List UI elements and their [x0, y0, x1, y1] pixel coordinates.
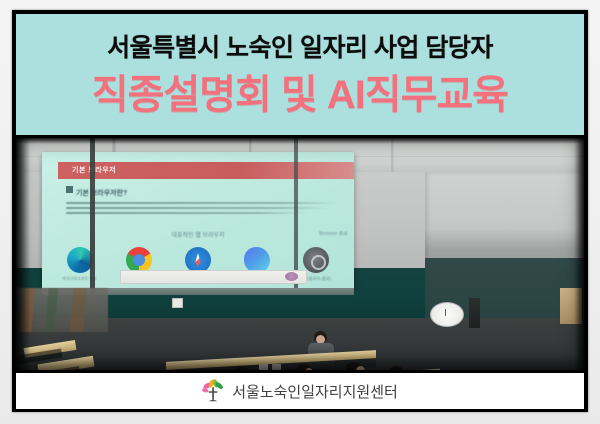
- projector-screen: 기본 브라우저 기본 브라우저란? 대표적인 웹 브라우저 Browser 종류…: [42, 152, 354, 288]
- lecture-room: 기본 브라우저 기본 브라우저란? 대표적인 웹 브라우저 Browser 종류…: [16, 138, 584, 370]
- seoul-homeless-job-center-logo-icon: [202, 379, 224, 403]
- attendee: [382, 366, 412, 370]
- slide-corner-label: Browser 종류: [319, 230, 348, 237]
- edge-browser-icon: [67, 247, 93, 273]
- poster-frame: 서울특별시 노숙인 일자리 사업 담당자 직종설명회 및 AI직무교육 기본 브…: [12, 10, 588, 412]
- attendee: [288, 364, 320, 370]
- slide-subheading: 기본 브라우저란?: [76, 188, 127, 198]
- wall-banner: [120, 270, 307, 284]
- organization-name: 서울노숙인일자리지원센터: [232, 381, 398, 402]
- other-browser-icon: [303, 247, 329, 273]
- slide-bullet-icon: [66, 186, 73, 193]
- wall-banner-seal-icon: [285, 272, 298, 281]
- wall-seam: [294, 138, 298, 288]
- photo-edge-right: [574, 138, 584, 370]
- poster-footer: 서울노숙인일자리지원센터: [16, 373, 584, 409]
- photo-edge-left: [16, 138, 30, 370]
- photo-edge-top: [16, 138, 584, 144]
- wall-clock-icon: [430, 302, 464, 327]
- slide-center-label: 대표적인 웹 브라우저: [42, 230, 354, 239]
- attendee: [226, 366, 256, 370]
- header-subtitle: 서울특별시 노숙인 일자리 사업 담당자: [107, 36, 493, 61]
- slide-title-bar: 기본 브라우저: [58, 162, 354, 179]
- header-title: 직종설명회 및 AI직무교육: [92, 75, 508, 115]
- wall-light-switch: [172, 298, 183, 308]
- slide-body-text: [66, 202, 340, 217]
- attendee: [338, 362, 372, 370]
- poster-header: 서울특별시 노숙인 일자리 사업 담당자 직종설명회 및 AI직무교육: [16, 14, 584, 135]
- event-photo: 기본 브라우저 기본 브라우저란? 대표적인 웹 브라우저 Browser 종류…: [16, 138, 584, 370]
- wall-speaker: [469, 298, 480, 328]
